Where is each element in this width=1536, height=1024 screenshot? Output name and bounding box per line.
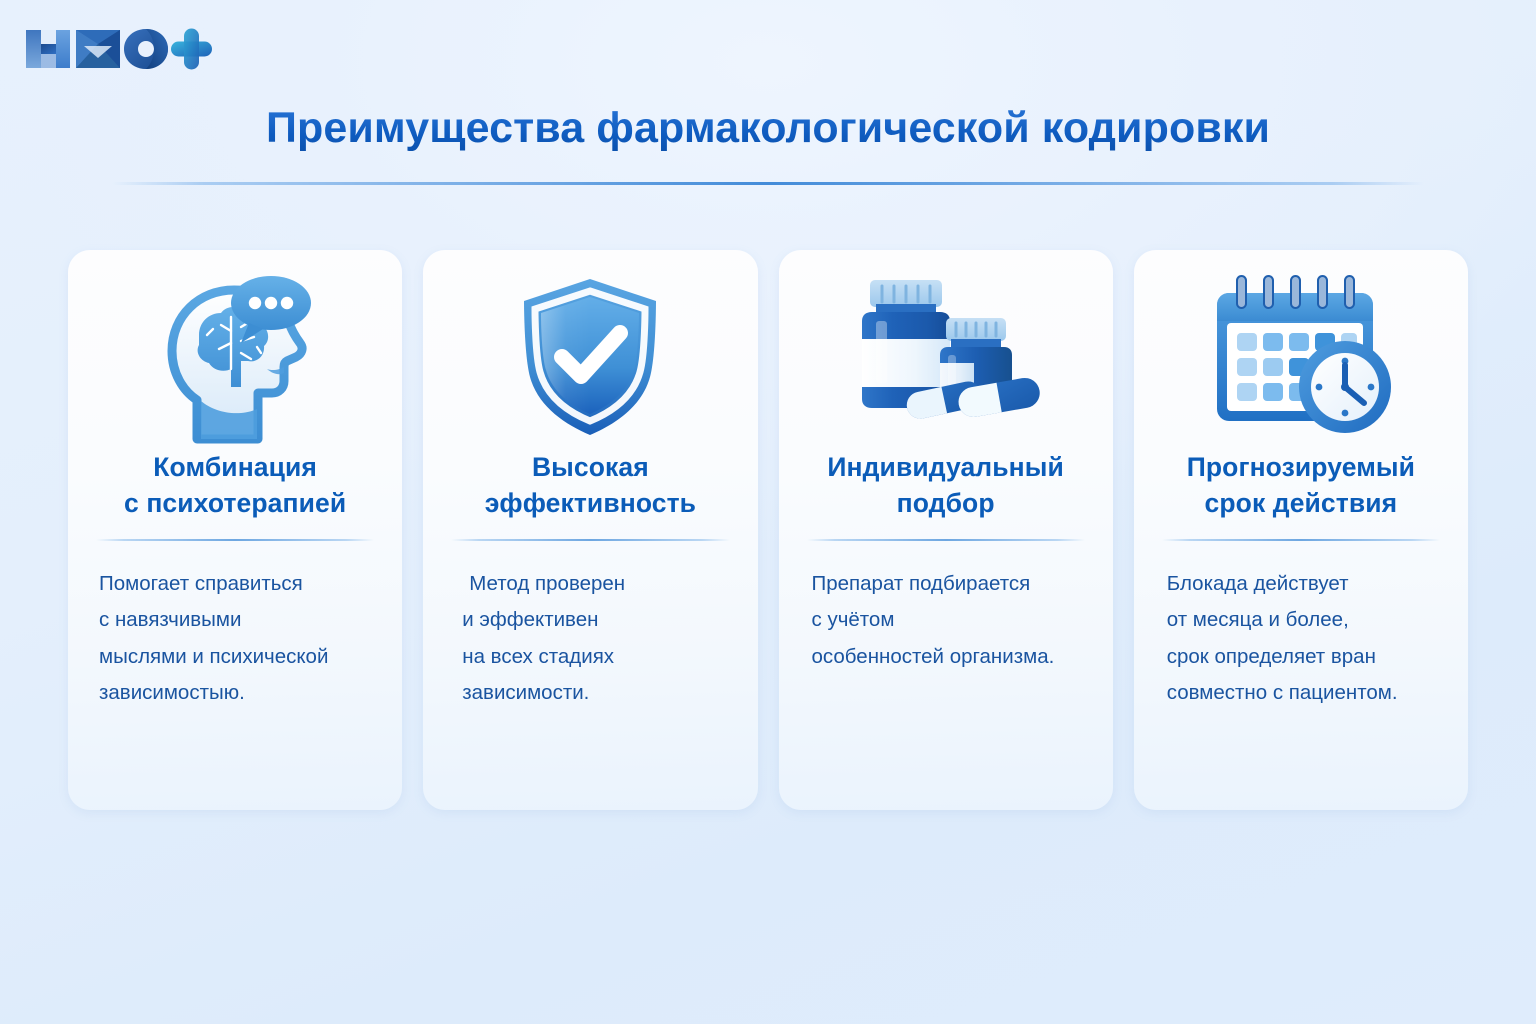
- card-body-line: Препарат подбирается: [812, 566, 1083, 602]
- card-divider: [96, 539, 374, 541]
- card-body: Препарат подбирается с учётом особенност…: [779, 566, 1113, 675]
- calendar-clock-icon: [1201, 269, 1401, 444]
- benefit-card-effectiveness: Высокая эффективность Метод проверен и э…: [423, 250, 757, 810]
- card-title: Комбинация с психотерапией: [68, 450, 402, 521]
- card-body-line: Помогает справиться: [99, 566, 372, 602]
- card-body-line: и эффективен: [462, 602, 727, 638]
- card-title-line: срок действия: [1148, 486, 1454, 522]
- card-body-line: Блокада действует: [1167, 566, 1438, 602]
- card-body-line: зависимости.: [462, 675, 727, 711]
- card-divider: [451, 539, 729, 541]
- card-title-line: Высокая: [437, 450, 743, 486]
- card-body: Помогает справиться с навязчивыми мыслям…: [68, 566, 402, 712]
- card-title-line: Прогнозируемый: [1148, 450, 1454, 486]
- card-title: Индивидуальный подбор: [779, 450, 1113, 521]
- card-title-line: эффективность: [437, 486, 743, 522]
- card-title-line: Индивидуальный: [793, 450, 1099, 486]
- card-icon-slot: [423, 250, 757, 450]
- card-body-line: Метод проверен: [462, 566, 727, 602]
- benefit-card-individual-selection: Индивидуальный подбор Препарат подбирает…: [779, 250, 1113, 810]
- benefit-card-predictable-duration: Прогнозируемый срок действия Блокада дей…: [1134, 250, 1468, 810]
- card-body-line: особенностей организма.: [812, 639, 1083, 675]
- card-body-line: зависимостыю.: [99, 675, 372, 711]
- card-icon-slot: [68, 250, 402, 450]
- card-body: Метод проверен и эффективен на всех стад…: [423, 566, 757, 712]
- card-divider: [807, 539, 1085, 541]
- card-body-line: с учётом: [812, 602, 1083, 638]
- card-title: Высокая эффективность: [423, 450, 757, 521]
- card-body-line: совместно с пациентом.: [1167, 675, 1438, 711]
- shield-check-icon: [510, 269, 670, 444]
- card-icon-slot: [1134, 250, 1468, 450]
- benefit-card-combination: Комбинация с психотерапией Помогает спра…: [68, 250, 402, 810]
- card-body-line: мыслями и психической: [99, 639, 372, 675]
- card-title-line: Комбинация: [82, 450, 388, 486]
- card-body-line: от месяца и более,: [1167, 602, 1438, 638]
- card-body-line: на всех стадиях: [462, 639, 727, 675]
- brand-logo: [18, 18, 218, 80]
- title-divider: [112, 182, 1424, 185]
- benefits-card-row: Комбинация с психотерапией Помогает спра…: [68, 250, 1468, 810]
- card-body-line: срок определяет вран: [1167, 639, 1438, 675]
- card-divider: [1162, 539, 1440, 541]
- card-title-line: с психотерапией: [82, 486, 388, 522]
- infographic-page: Преимущества фармакологической кодировки: [0, 0, 1536, 1024]
- page-title: Преимущества фармакологической кодировки: [0, 104, 1536, 153]
- card-icon-slot: [779, 250, 1113, 450]
- card-title-line: подбор: [793, 486, 1099, 522]
- pill-bottles-capsules-icon: [838, 269, 1053, 444]
- card-body: Блокада действует от месяца и более, сро…: [1134, 566, 1468, 712]
- card-title: Прогнозируемый срок действия: [1134, 450, 1468, 521]
- card-body-line: с навязчивыми: [99, 602, 372, 638]
- head-brain-speech-bubble-icon: [145, 269, 325, 444]
- neo-plus-logo-icon: [18, 18, 218, 80]
